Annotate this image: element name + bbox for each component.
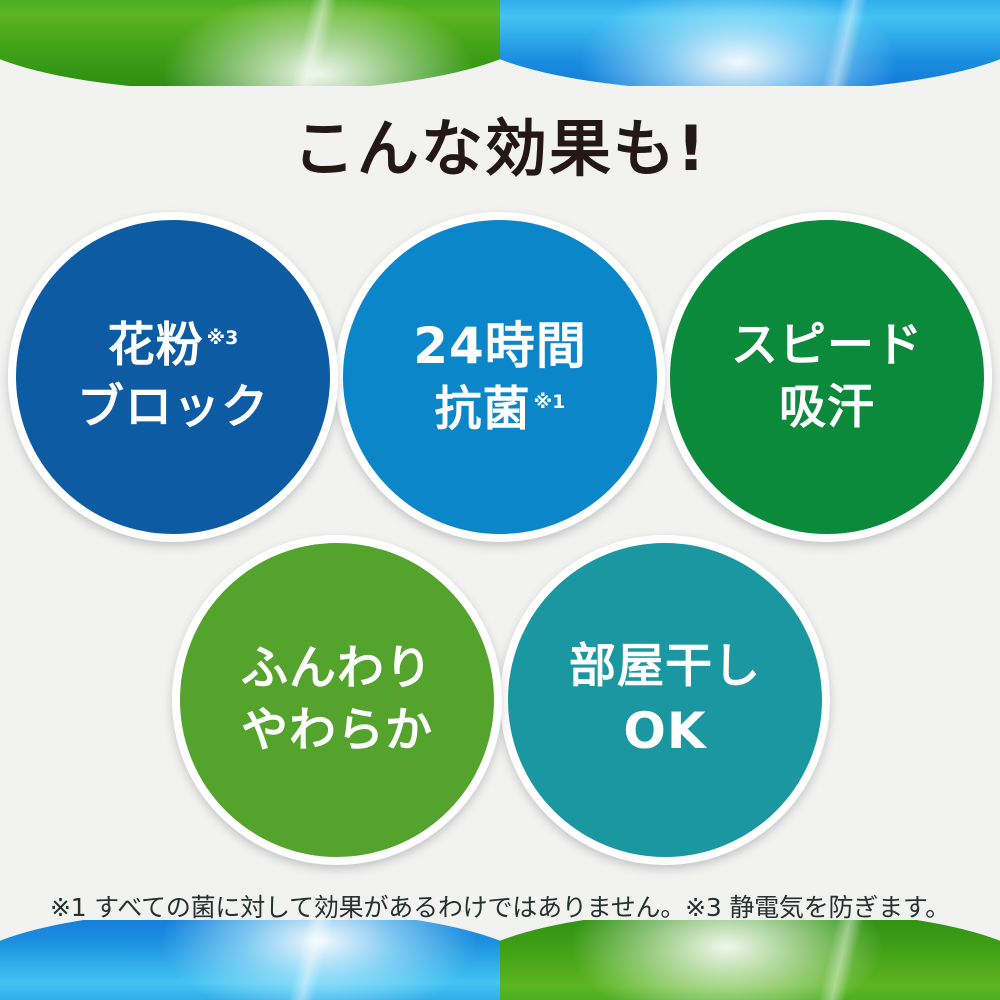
bottom-banner-blue-half: [0, 920, 500, 1000]
bottom-banner-green-half: [500, 920, 1000, 1000]
benefit-line-2: やわらか: [241, 700, 433, 762]
benefit-line-1-text: 花粉: [108, 318, 204, 373]
benefit-bubble-indoor-drying-ok[interactable]: 部屋干し OK: [500, 535, 830, 865]
benefit-line-2-text: 抗菌: [435, 382, 531, 437]
benefit-line-1: スピード: [731, 315, 923, 377]
promo-graphic: こんな効果も! 花粉※3 ブロック 24時間 抗菌※1 スピード 吸汗 ふんわり…: [0, 0, 1000, 1000]
page-title: こんな効果も!: [0, 118, 1000, 180]
top-decorative-banner: [0, 0, 1000, 86]
benefit-line-1: 花粉※3: [108, 315, 239, 377]
top-blue-swoosh: [500, 0, 1000, 86]
benefit-line-1: 24時間: [413, 313, 587, 379]
benefit-line-1: ふんわり: [241, 638, 433, 700]
benefit-line-2: 吸汗: [779, 377, 875, 439]
footnote-marker-1: ※1: [534, 391, 566, 413]
benefit-bubble-speed-absorb[interactable]: スピード 吸汗: [662, 212, 992, 542]
benefit-line-2: OK: [623, 698, 706, 764]
top-banner-blue-half: [500, 0, 1000, 86]
footnote-text: ※1 すべての菌に対して効果があるわけではありません。※3 静電気を防ぎます。: [0, 888, 1000, 924]
top-green-swoosh: [0, 0, 500, 86]
benefit-bubble-soft-fluffy[interactable]: ふんわり やわらか: [172, 535, 502, 865]
bottom-decorative-banner: [0, 920, 1000, 1000]
benefit-line-1: 部屋干し: [569, 636, 761, 698]
footnote-marker-3: ※3: [207, 327, 239, 349]
bottom-blue-swoosh: [0, 920, 500, 1000]
benefit-bubble-24h-antibacterial[interactable]: 24時間 抗菌※1: [335, 212, 665, 542]
benefit-bubble-kafun-block[interactable]: 花粉※3 ブロック: [8, 212, 338, 542]
benefit-line-2: ブロック: [77, 377, 269, 439]
benefit-line-2: 抗菌※1: [435, 379, 566, 441]
top-banner-green-half: [0, 0, 500, 86]
bottom-green-swoosh: [500, 920, 1000, 1000]
